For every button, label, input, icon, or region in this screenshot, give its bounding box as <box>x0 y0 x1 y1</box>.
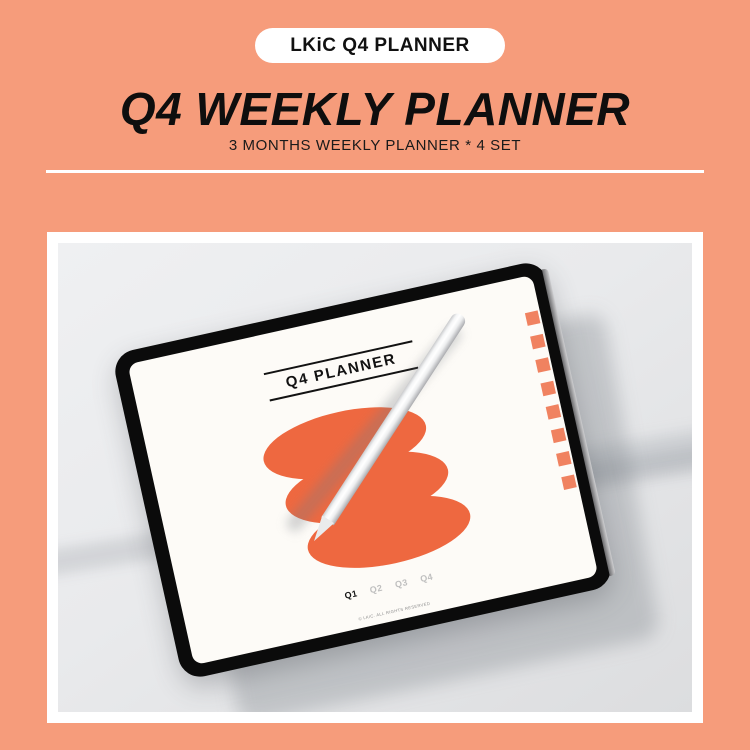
quarter-item-q2: Q2 <box>369 583 384 596</box>
side-tab-marker <box>556 451 572 467</box>
orange-blob-graphic <box>257 389 478 588</box>
quarter-selector: Q1 Q2 Q3 Q4 <box>344 572 434 601</box>
product-image-card: Q4 PLANNER Q1 Q2 Q3 Q4 © LKiC. ALL RIGHT… <box>47 232 703 723</box>
side-tab-marker <box>540 381 556 397</box>
side-tab-marker <box>530 334 546 350</box>
brand-badge-label: LKiC Q4 PLANNER <box>290 35 470 57</box>
quarter-item-q1: Q1 <box>344 588 359 601</box>
side-tab-marker <box>535 357 551 373</box>
quarter-item-q4: Q4 <box>419 572 434 585</box>
page-subtitle: 3 MONTHS WEEKLY PLANNER * 4 SET <box>0 137 750 154</box>
brand-badge: LKiC Q4 PLANNER <box>255 28 505 63</box>
page-title: Q4 WEEKLY PLANNER <box>0 82 750 136</box>
mockup-stage: Q4 PLANNER Q1 Q2 Q3 Q4 © LKiC. ALL RIGHT… <box>58 243 692 712</box>
header-divider <box>46 170 704 173</box>
header-banner: LKiC Q4 PLANNER Q4 WEEKLY PLANNER 3 MONT… <box>0 0 750 232</box>
side-tab-marker <box>546 404 562 420</box>
copyright-text: © LKiC. ALL RIGHTS RESERVED <box>358 601 431 622</box>
side-tab-marker <box>525 310 541 326</box>
side-tab-marker <box>561 474 577 490</box>
side-tab-marker <box>551 428 567 444</box>
quarter-item-q3: Q3 <box>394 577 409 590</box>
